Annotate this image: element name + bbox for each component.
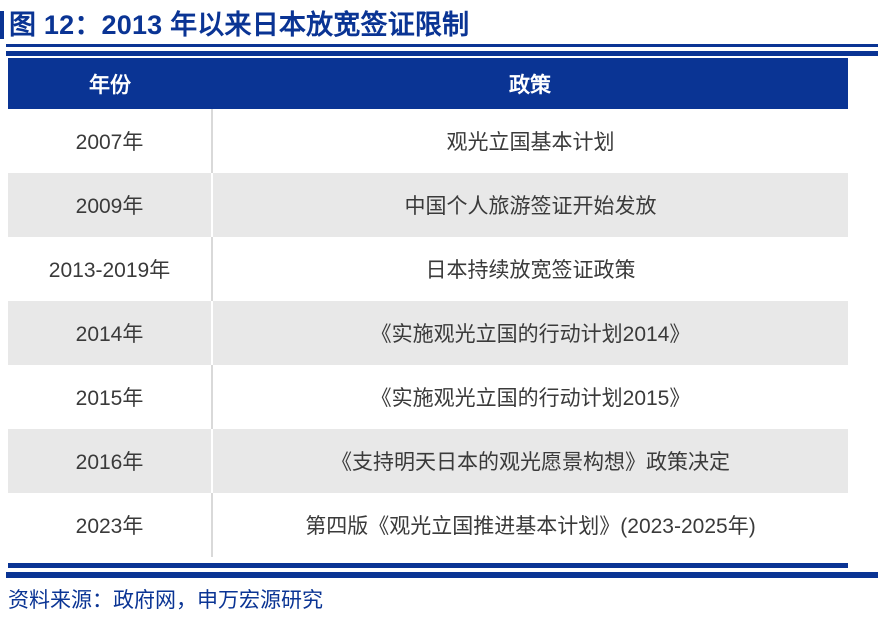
cell-policy: 《实施观光立国的行动计划2014》 <box>212 301 848 365</box>
source-note: 资料来源：政府网，申万宏源研究 <box>8 588 323 613</box>
column-header-year: 年份 <box>8 58 212 109</box>
table-row: 2016年 《支持明天日本的观光愿景构想》政策决定 <box>8 429 848 493</box>
cell-year: 2023年 <box>8 493 212 557</box>
divider-bottom-short <box>8 563 848 568</box>
cell-policy: 中国个人旅游签证开始发放 <box>212 173 848 237</box>
cell-policy: 日本持续放宽签证政策 <box>212 237 848 301</box>
cell-year: 2007年 <box>8 109 212 173</box>
table-row: 2015年 《实施观光立国的行动计划2015》 <box>8 365 848 429</box>
cell-year: 2014年 <box>8 301 212 365</box>
table-row: 2013-2019年 日本持续放宽签证政策 <box>8 237 848 301</box>
table-row: 2023年 第四版《观光立国推进基本计划》(2023-2025年) <box>8 493 848 557</box>
column-header-policy: 政策 <box>212 58 848 109</box>
table-row: 2014年 《实施观光立国的行动计划2014》 <box>8 301 848 365</box>
table-header-row: 年份 政策 <box>8 58 848 109</box>
cell-policy: 《支持明天日本的观光愿景构想》政策决定 <box>212 429 848 493</box>
table-header: 年份 政策 <box>8 58 848 109</box>
table-body: 2007年 观光立国基本计划 2009年 中国个人旅游签证开始发放 2013-2… <box>8 109 848 557</box>
cell-year: 2015年 <box>8 365 212 429</box>
cell-policy: 第四版《观光立国推进基本计划》(2023-2025年) <box>212 493 848 557</box>
cell-year: 2016年 <box>8 429 212 493</box>
table-row: 2009年 中国个人旅游签证开始发放 <box>8 173 848 237</box>
cell-year: 2013-2019年 <box>8 237 212 301</box>
policy-table: 年份 政策 2007年 观光立国基本计划 2009年 中国个人旅游签证开始发放 … <box>8 58 848 557</box>
page-title: 图 12：2013 年以来日本放宽签证限制 <box>0 8 469 42</box>
figure-title-text: 图 12：2013 年以来日本放宽签证限制 <box>4 12 469 39</box>
cell-policy: 观光立国基本计划 <box>212 109 848 173</box>
cell-year: 2009年 <box>8 173 212 237</box>
divider-top-thick <box>6 51 878 56</box>
cell-policy: 《实施观光立国的行动计划2015》 <box>212 365 848 429</box>
divider-bottom-long <box>6 572 878 578</box>
divider-top-thin <box>6 44 878 47</box>
table-row: 2007年 观光立国基本计划 <box>8 109 848 173</box>
